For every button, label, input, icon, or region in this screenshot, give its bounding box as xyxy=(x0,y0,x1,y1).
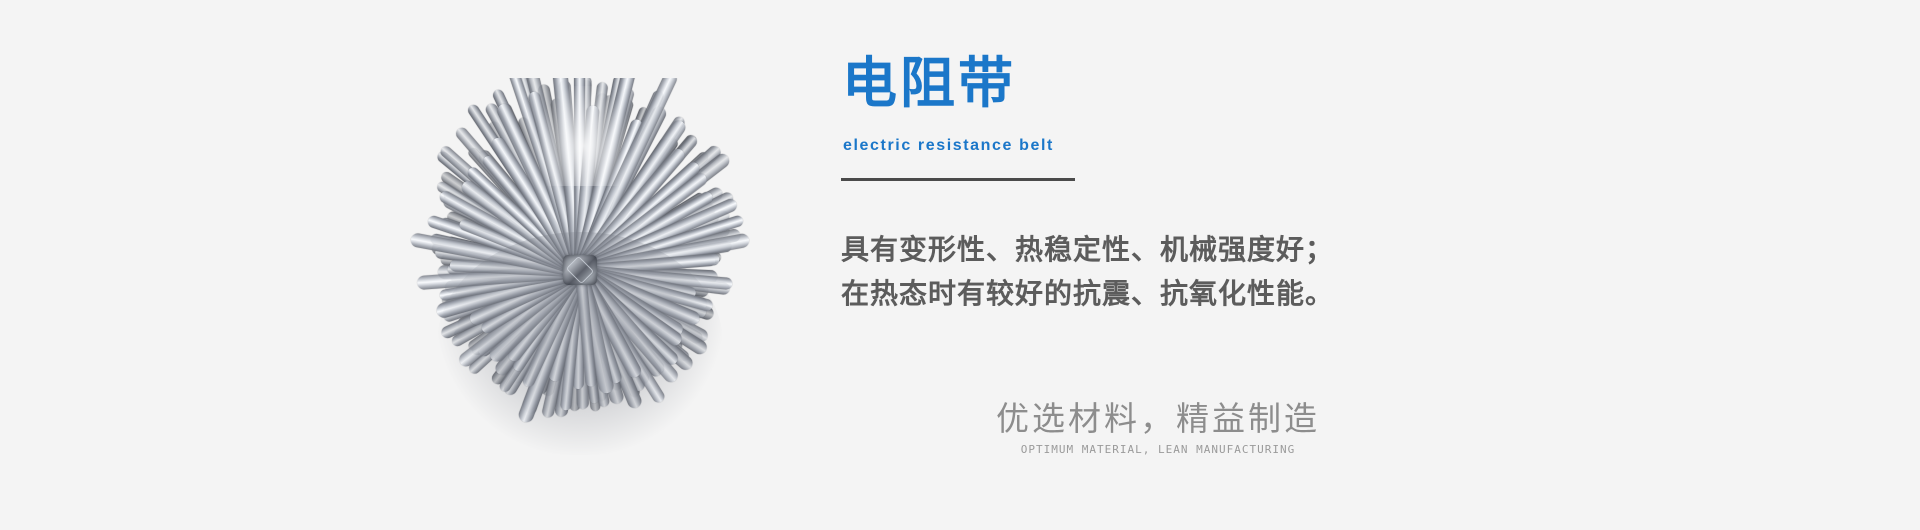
title-divider xyxy=(841,178,1075,181)
product-center-binding xyxy=(563,255,597,285)
page-title: 电阻带 xyxy=(842,55,1016,113)
banner-copy: 电阻带 electric resistance belt 具有变形性、热稳定性、… xyxy=(838,0,1598,530)
product-banner: 电阻带 electric resistance belt 具有变形性、热稳定性、… xyxy=(0,0,1920,530)
slogan-zh: 优选材料，精益制造 xyxy=(948,398,1368,440)
product-image-stage xyxy=(370,78,790,463)
product-image xyxy=(370,78,790,463)
slogan-en: OPTIMUM MATERIAL, LEAN MANUFACTURING xyxy=(948,443,1368,457)
slogan: 优选材料，精益制造 OPTIMUM MATERIAL, LEAN MANUFAC… xyxy=(948,398,1368,457)
page-subtitle: electric resistance belt xyxy=(843,137,1054,155)
product-description: 具有变形性、热稳定性、机械强度好； 在热态时有较好的抗震、抗氧化性能。 xyxy=(841,228,1581,316)
description-line: 在热态时有较好的抗震、抗氧化性能。 xyxy=(841,272,1581,316)
description-line: 具有变形性、热稳定性、机械强度好； xyxy=(841,228,1581,272)
